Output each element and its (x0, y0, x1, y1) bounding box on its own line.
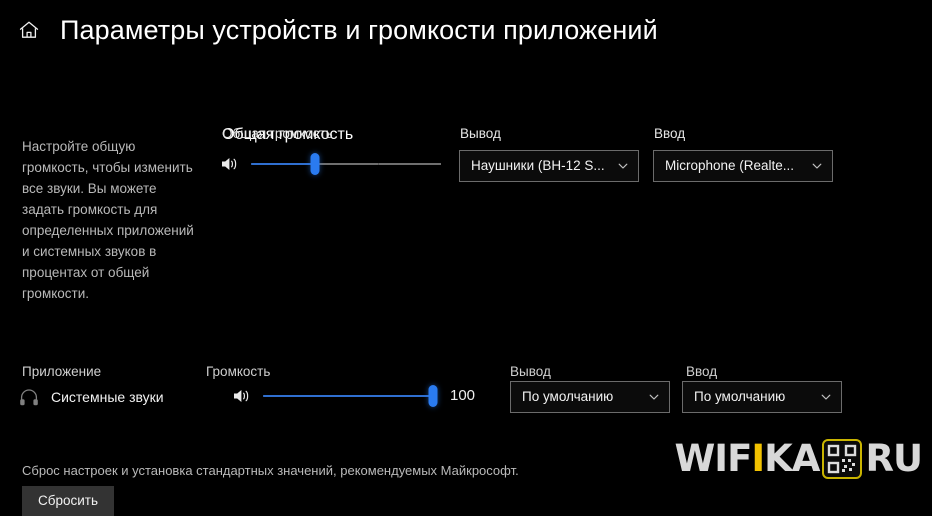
speaker-icon (232, 386, 254, 406)
app-input-value: По умолчанию (694, 389, 785, 405)
master-volume-slider-row[interactable]: 50 (220, 154, 486, 174)
master-input-select[interactable]: Microphone (Realte... (653, 150, 833, 182)
settings-content: Настройте общую громкость, чтобы изменит… (0, 46, 932, 491)
slider-track-extension (379, 163, 441, 165)
app-volume-slider-row[interactable]: 100 (232, 386, 475, 406)
app-volume-slider[interactable] (263, 386, 433, 406)
master-output-value: Наушники (BH-12 S... (471, 158, 605, 174)
page-description: Настройте общую громкость, чтобы изменит… (22, 136, 200, 304)
table-row[interactable]: Системные звуки (18, 386, 164, 408)
watermark-part3: KA (764, 439, 819, 479)
column-header-app: Приложение (22, 364, 101, 380)
column-header-output: Вывод (510, 364, 551, 380)
page-title: Параметры устройств и громкости приложен… (60, 14, 658, 46)
master-volume-label-text: Общая громкость (222, 126, 333, 142)
slider-thumb[interactable] (311, 153, 320, 175)
app-output-select[interactable]: По умолчанию (510, 381, 670, 413)
page-header: Параметры устройств и громкости приложен… (0, 0, 932, 46)
chevron-down-icon (811, 160, 823, 172)
app-input-select[interactable]: По умолчанию (682, 381, 842, 413)
chevron-down-icon (820, 391, 832, 403)
chevron-down-icon (648, 391, 660, 403)
master-input-label: Ввод (654, 126, 685, 142)
master-output-select[interactable]: Наушники (BH-12 S... (459, 150, 639, 182)
watermark-part4: RU (865, 439, 922, 479)
column-header-volume: Громкость (206, 364, 270, 380)
app-volume-value: 100 (450, 386, 475, 406)
speaker-icon (220, 154, 242, 174)
app-name: Системные звуки (51, 388, 164, 406)
headphones-icon (18, 386, 40, 408)
master-output-label: Вывод (460, 126, 501, 142)
slider-thumb[interactable] (429, 385, 438, 407)
master-volume-slider[interactable] (251, 154, 379, 174)
reset-description: Сброс настроек и установка стандартных з… (22, 463, 519, 479)
app-output-value: По умолчанию (522, 389, 613, 405)
watermark-part1: WIF (675, 439, 752, 479)
column-header-input: Ввод (686, 364, 717, 380)
home-icon[interactable] (16, 17, 42, 43)
watermark-part2: I (751, 439, 764, 479)
chevron-down-icon (617, 160, 629, 172)
watermark: WIF I KA RU (675, 435, 923, 483)
master-input-value: Microphone (Realte... (665, 158, 794, 174)
qr-code-icon (822, 439, 862, 479)
slider-track-fill (263, 395, 433, 397)
slider-track-fill (251, 163, 315, 165)
